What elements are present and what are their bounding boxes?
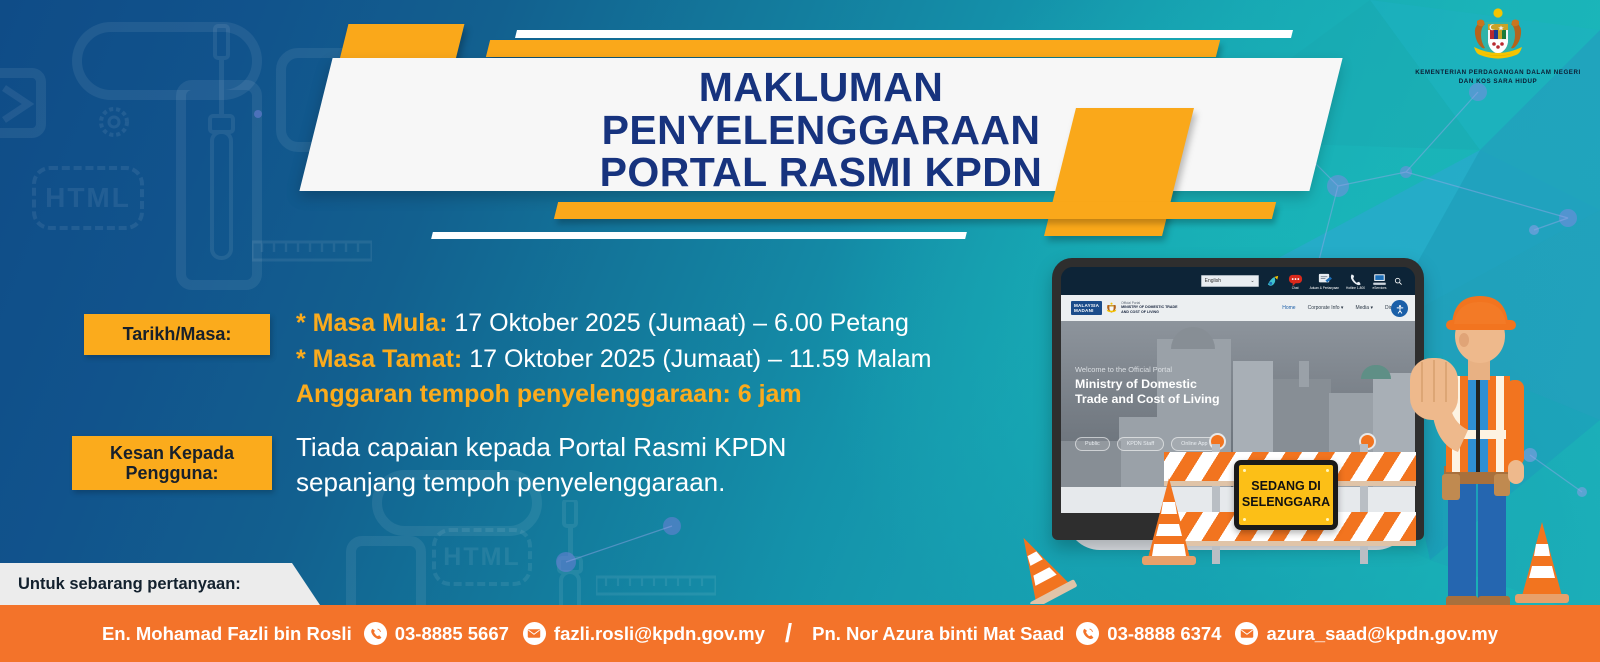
traffic-cone-center bbox=[1138, 476, 1200, 568]
phone-icon bbox=[1076, 622, 1099, 645]
hotline-phone-icon bbox=[1348, 272, 1363, 287]
ministry-name-line-1: KEMENTERIAN PERDAGANGAN DALAM NEGERI bbox=[1415, 68, 1581, 77]
ministry-name-line-2: DAN KOS SARA HIDUP bbox=[1459, 77, 1537, 86]
sign-line-2: SELENGGARA bbox=[1242, 495, 1330, 511]
chat-caption: Chat bbox=[1292, 287, 1299, 290]
complaint-icon bbox=[1317, 272, 1332, 287]
questions-banner: Untuk sebarang pertanyaan: bbox=[0, 563, 320, 605]
chat-bubble-icon bbox=[1288, 272, 1303, 287]
complaint-link[interactable]: Aduan & Pertanyaan bbox=[1310, 272, 1339, 291]
eservices-monitor-icon bbox=[1372, 272, 1387, 287]
banner-accent-bar-white-top bbox=[515, 30, 1293, 38]
end-label: * Masa Tamat: bbox=[296, 345, 462, 373]
contact-2: Pn. Nor Azura binti Mat Saad 03-8888 637… bbox=[812, 622, 1498, 645]
hero-title-line-2: Trade and Cost of Living bbox=[1075, 392, 1220, 407]
malaysian-coat-of-arms-icon bbox=[1105, 302, 1118, 314]
nav-link-corporate-info[interactable]: Corporate Info ▾ bbox=[1308, 305, 1344, 311]
title-line-3: PORTAL RASMI KPDN bbox=[600, 151, 1043, 194]
start-label: * Masa Mula: bbox=[296, 309, 447, 337]
hero-title: Ministry of Domestic Trade and Cost of L… bbox=[1075, 377, 1220, 407]
contact-1-phone[interactable]: 03-8885 5667 bbox=[395, 623, 509, 645]
end-value: 17 Oktober 2025 (Jumaat) – 11.59 Malam bbox=[469, 345, 931, 373]
contact-1: En. Mohamad Fazli bin Rosli 03-8885 5667… bbox=[102, 622, 765, 645]
contact-bar: En. Mohamad Fazli bin Rosli 03-8885 5667… bbox=[0, 605, 1600, 662]
language-select[interactable]: English ⌄ bbox=[1201, 275, 1259, 287]
site-ministry-name: Official Portal MINISTRY OF DOMESTIC TRA… bbox=[1121, 301, 1177, 315]
notice-banner-canvas: HTML HTML bbox=[0, 0, 1600, 662]
sign-line-1: SEDANG DI bbox=[1242, 479, 1330, 495]
chat-link[interactable]: Chat bbox=[1288, 272, 1303, 291]
contact-1-email[interactable]: fazli.rosli@kpdn.gov.my bbox=[554, 623, 765, 645]
start-value: 17 Oktober 2025 (Jumaat) – 6.00 Petang bbox=[454, 309, 908, 337]
malaysian-coat-of-arms-icon bbox=[1464, 6, 1532, 68]
page-title: MAKLUMAN PENYELENGGARAAN PORTAL RASMI KP… bbox=[316, 70, 1326, 190]
hero-text: Welcome to the Official Portal Ministry … bbox=[1075, 365, 1220, 407]
date-time-label-pill: Tarikh/Masa: bbox=[84, 314, 270, 355]
contact-separator: / bbox=[785, 618, 792, 649]
impact-line-1: Tiada capaian kepada Portal Rasmi KPDN bbox=[296, 430, 996, 465]
title-line-1: MAKLUMAN bbox=[699, 66, 944, 109]
maintenance-sign: SEDANG DI SELENGGARA bbox=[1234, 460, 1338, 530]
date-time-label: Tarikh/Masa: bbox=[123, 324, 232, 344]
envelope-icon bbox=[1235, 622, 1258, 645]
traffic-cone-tilted bbox=[996, 530, 1082, 604]
phone-icon bbox=[364, 622, 387, 645]
impact-label-line-1: Kesan Kepada bbox=[110, 443, 234, 463]
maintenance-barricade: SEDANG DI SELENGGARA bbox=[1164, 444, 1416, 564]
mygov-link[interactable] bbox=[1266, 274, 1281, 289]
eservices-link[interactable]: eServices bbox=[1372, 272, 1387, 291]
impact-line-2: sepanjang tempoh penyelenggaraan. bbox=[296, 465, 996, 500]
nav-links: Home Corporate Info ▾ Media ▾ Directory bbox=[1282, 305, 1405, 311]
hero-title-line-1: Ministry of Domestic bbox=[1075, 377, 1220, 392]
madani-line-2: MADANI bbox=[1074, 308, 1099, 313]
duration-estimate: Anggaran tempoh penyelenggaraan: 6 jam bbox=[296, 377, 1016, 413]
questions-label: Untuk sebarang pertanyaan: bbox=[0, 575, 241, 594]
contact-2-name: Pn. Nor Azura binti Mat Saad bbox=[812, 623, 1064, 645]
site-utility-bar: English ⌄ bbox=[1061, 267, 1415, 295]
hotline-link[interactable]: Hotline 1-800 bbox=[1346, 272, 1365, 291]
title-line-2: PENYELENGGARAAN bbox=[602, 109, 1041, 152]
maintenance-end-row: * Masa Tamat: 17 Oktober 2025 (Jumaat) –… bbox=[296, 342, 1016, 378]
site-ministry-line-2: AND COST OF LIVING bbox=[1121, 310, 1177, 315]
impact-label-line-2: Pengguna: bbox=[110, 463, 234, 483]
maintenance-start-row: * Masa Mula: 17 Oktober 2025 (Jumaat) – … bbox=[296, 306, 1016, 342]
contact-1-name: En. Mohamad Fazli bin Rosli bbox=[102, 623, 352, 645]
mygov-icon bbox=[1266, 274, 1281, 289]
banner-accent-bar-orange-bottom bbox=[554, 202, 1276, 219]
site-nav-bar: MALAYSIA MADANI Official Portal bbox=[1061, 295, 1415, 321]
user-impact-label-pill: Kesan Kepada Pengguna: bbox=[72, 436, 272, 490]
eservices-caption: eServices bbox=[1373, 287, 1387, 290]
nav-link-media[interactable]: Media ▾ bbox=[1355, 305, 1373, 311]
user-impact-details: Tiada capaian kepada Portal Rasmi KPDN s… bbox=[296, 430, 996, 500]
hotline-caption: Hotline 1-800 bbox=[1346, 287, 1365, 290]
hero-button-public[interactable]: Public bbox=[1075, 437, 1110, 451]
hero-button-kpdn-staff[interactable]: KPDN Staff bbox=[1117, 437, 1164, 451]
contact-2-phone[interactable]: 03-8888 6374 bbox=[1107, 623, 1221, 645]
language-value: English bbox=[1205, 278, 1221, 284]
chevron-down-icon: ⌄ bbox=[1250, 278, 1254, 284]
contact-2-email[interactable]: azura_saad@kpdn.gov.my bbox=[1266, 623, 1498, 645]
complaint-caption: Aduan & Pertanyaan bbox=[1310, 287, 1339, 290]
nav-link-home[interactable]: Home bbox=[1282, 305, 1295, 311]
construction-worker-illustration bbox=[1402, 284, 1530, 614]
madani-logo: MALAYSIA MADANI Official Portal bbox=[1071, 301, 1177, 315]
ministry-logo: KEMENTERIAN PERDAGANGAN DALAM NEGERI DAN… bbox=[1410, 6, 1586, 87]
hero-subtitle: Welcome to the Official Portal bbox=[1075, 365, 1220, 374]
banner-accent-bar-orange-top bbox=[486, 40, 1220, 57]
envelope-icon bbox=[523, 622, 546, 645]
banner-accent-bar-white-bottom bbox=[431, 232, 967, 239]
date-time-details: * Masa Mula: 17 Oktober 2025 (Jumaat) – … bbox=[296, 306, 1016, 413]
